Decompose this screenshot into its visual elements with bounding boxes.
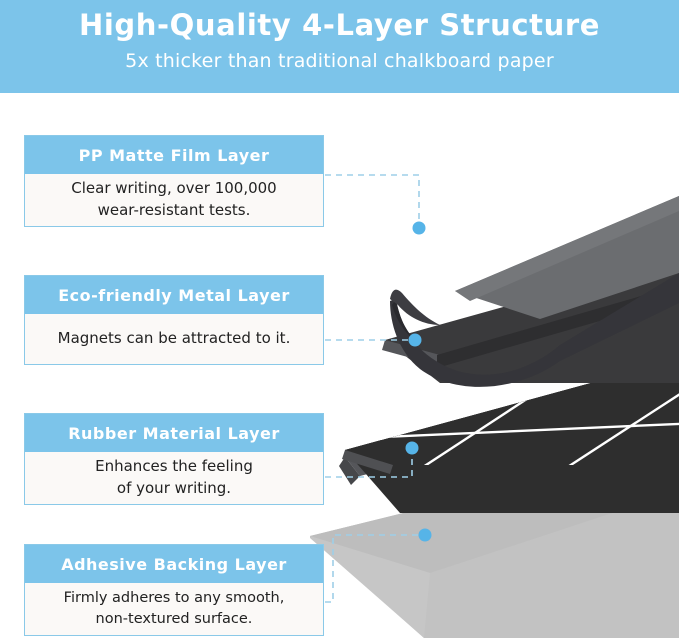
callout-description-3: Enhances the feeling of your writing. — [25, 452, 323, 504]
callout-card-adhesive-backing-layer[interactable]: Adhesive Backing Layer Firmly adheres to… — [24, 544, 324, 636]
header-banner: High-Quality 4-Layer Structure 5x thicke… — [0, 0, 679, 93]
callout-description-3-line-1: Enhances the feeling — [95, 457, 253, 475]
callout-description-4-line-2: non-textured surface. — [96, 611, 253, 627]
callout-description-2: Magnets can be attracted to it. — [25, 314, 323, 364]
callout-description-1: Clear writing, over 100,000 wear-resista… — [25, 174, 323, 226]
callout-description-4: Firmly adheres to any smooth, non-textur… — [25, 583, 323, 635]
callout-card-eco-friendly-metal-layer[interactable]: Eco-friendly Metal Layer Magnets can be … — [24, 275, 324, 365]
callout-title-4: Adhesive Backing Layer — [25, 545, 323, 583]
callout-description-1-line-1: Clear writing, over 100,000 — [71, 179, 276, 197]
product-infographic: High-Quality 4-Layer Structure 5x thicke… — [0, 0, 679, 640]
callout-description-1-line-2: wear-resistant tests. — [98, 201, 251, 219]
callout-title-1: PP Matte Film Layer — [25, 136, 323, 174]
callout-card-pp-matte-film-layer[interactable]: PP Matte Film Layer Clear writing, over … — [24, 135, 324, 227]
callout-description-3-line-2: of your writing. — [117, 479, 231, 497]
callout-title-3: Rubber Material Layer — [25, 414, 323, 452]
page-subtitle: 5x thicker than traditional chalkboard p… — [0, 50, 679, 72]
callout-title-2: Eco-friendly Metal Layer — [25, 276, 323, 314]
callout-description-2-line-1: Magnets can be attracted to it. — [58, 328, 291, 350]
callout-card-rubber-material-layer[interactable]: Rubber Material Layer Enhances the feeli… — [24, 413, 324, 505]
page-title: High-Quality 4-Layer Structure — [0, 8, 679, 42]
callout-description-4-line-1: Firmly adheres to any smooth, — [64, 590, 285, 606]
